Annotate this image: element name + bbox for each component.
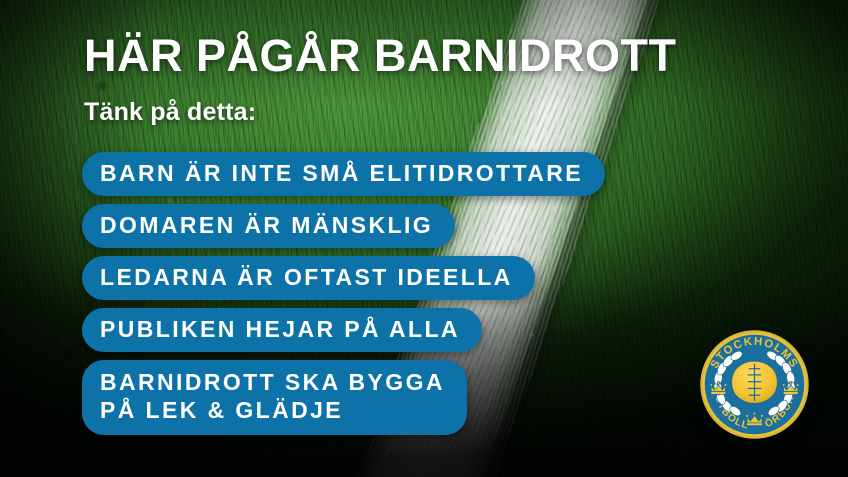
- list-item-label: BARN ÄR INTE SMÅ ELITIDROTTARE: [100, 159, 583, 187]
- list-item: BARNIDROTT SKA BYGGA PÅ LEK & GLÄDJE: [82, 360, 467, 435]
- page-title: HÄR PÅGÅR BARNIDROTT: [84, 33, 676, 78]
- list-item-label-second-line: PÅ LEK & GLÄDJE: [100, 396, 445, 424]
- list-item-label: BARNIDROTT SKA BYGGA: [100, 368, 445, 396]
- poster-content: HÄR PÅGÅR BARNIDROTT Tänk på detta: BARN…: [0, 0, 848, 477]
- list-item-label: PUBLIKEN HEJAR PÅ ALLA: [100, 315, 460, 343]
- list-item: BARN ÄR INTE SMÅ ELITIDROTTARE: [82, 152, 605, 196]
- poster-canvas: HÄR PÅGÅR BARNIDROTT Tänk på detta: BARN…: [0, 0, 848, 477]
- list-item: PUBLIKEN HEJAR PÅ ALLA: [82, 308, 482, 352]
- stockholms-fotbollforbund-logo: STOCKHOLMS FOTBOLL FÖRBUND: [698, 328, 811, 441]
- list-item: DOMAREN ÄR MÄNSKLIG: [82, 204, 455, 248]
- crest-football: [731, 361, 778, 404]
- list-item: LEDARNA ÄR OFTAST IDEELLA: [82, 256, 535, 300]
- message-list: BARN ÄR INTE SMÅ ELITIDROTTARE DOMAREN Ä…: [82, 152, 605, 435]
- list-item-label: DOMAREN ÄR MÄNSKLIG: [100, 211, 433, 239]
- page-subtitle: Tänk på detta:: [84, 100, 256, 125]
- list-item-label: LEDARNA ÄR OFTAST IDEELLA: [100, 263, 513, 291]
